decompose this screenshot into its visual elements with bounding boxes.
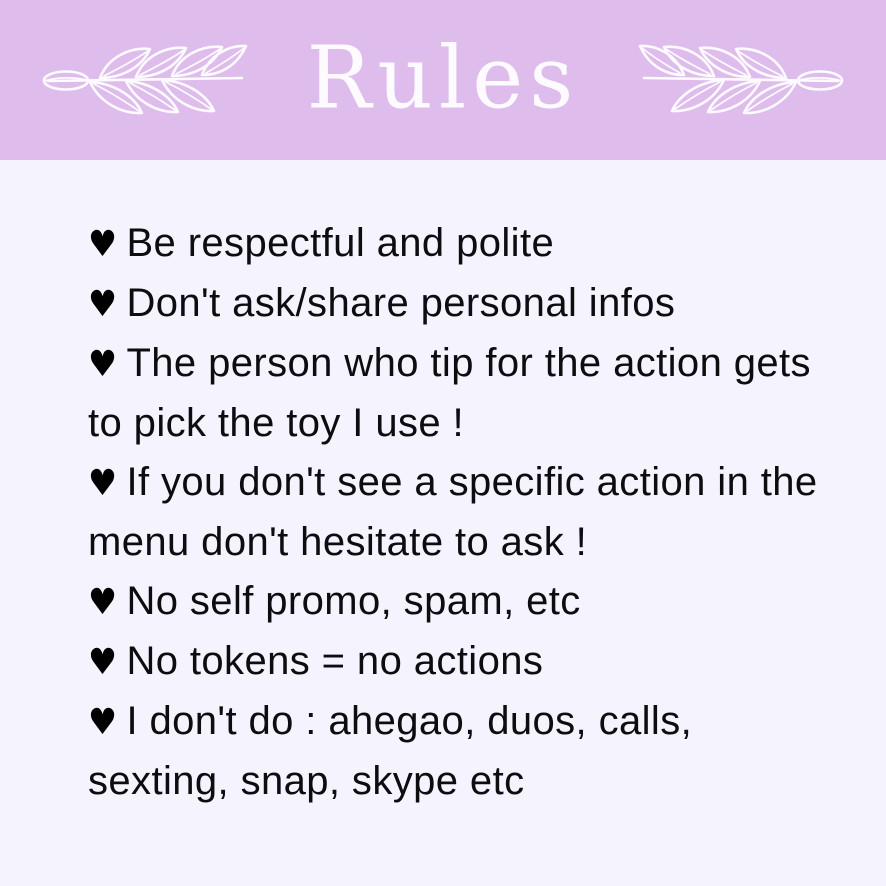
rule-text: Be respectful and polite	[126, 221, 554, 265]
page-title: Rules	[0, 35, 886, 121]
rules-card: Rules ♥Be respe	[0, 0, 886, 886]
heart-icon: ♥	[88, 344, 117, 385]
rule-text: The person who tip for the action gets t…	[88, 341, 811, 445]
rules-list: ♥Be respectful and polite♥Don't ask/shar…	[88, 214, 828, 811]
rule-item: ♥Don't ask/share personal infos	[88, 274, 828, 334]
rule-item: ♥No self promo, spam, etc	[88, 572, 828, 632]
rule-text: If you don't see a specific action in th…	[88, 460, 818, 564]
rule-text: No self promo, spam, etc	[126, 579, 580, 623]
rule-text: I don't do : ahegao, duos, calls, sextin…	[88, 699, 692, 803]
heart-icon: ♥	[88, 224, 117, 265]
header-band: Rules	[0, 0, 886, 160]
rule-item: ♥I don't do : ahegao, duos, calls, sexti…	[88, 692, 828, 811]
heart-icon: ♥	[88, 582, 117, 623]
rule-item: ♥If you don't see a specific action in t…	[88, 453, 828, 572]
rule-text: Don't ask/share personal infos	[126, 281, 675, 325]
rule-text: No tokens = no actions	[126, 639, 543, 683]
heart-icon: ♥	[88, 642, 117, 683]
heart-icon: ♥	[88, 284, 117, 325]
rule-item: ♥No tokens = no actions	[88, 632, 828, 692]
rule-item: ♥The person who tip for the action gets …	[88, 334, 828, 453]
rule-item: ♥Be respectful and polite	[88, 214, 828, 274]
heart-icon: ♥	[88, 702, 117, 743]
heart-icon: ♥	[88, 463, 117, 504]
